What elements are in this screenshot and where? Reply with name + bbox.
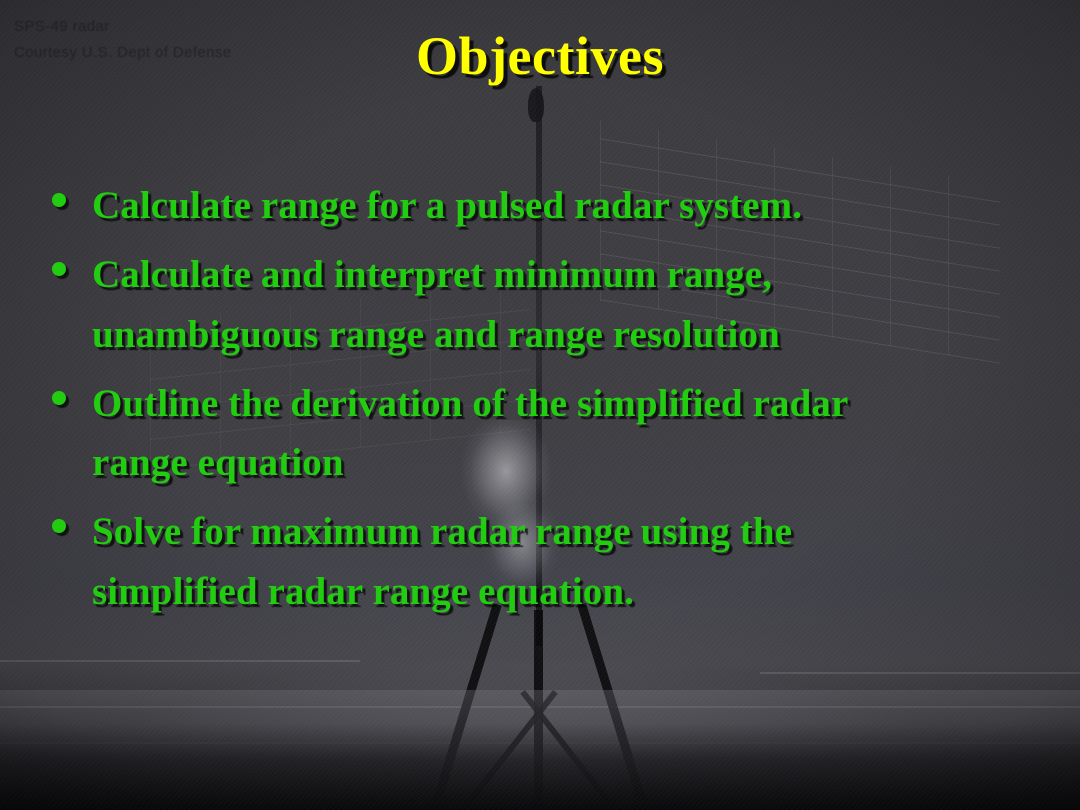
bullet-item: Solve for maximum radar range using the … xyxy=(42,502,1050,621)
bullet-line: range equation xyxy=(92,433,1050,492)
bullet-text: Outline the derivation of the simplified… xyxy=(92,374,1050,493)
slide-body: Calculate range for a pulsed radar syste… xyxy=(42,176,1050,631)
bullet-text: Calculate range for a pulsed radar syste… xyxy=(92,176,1050,235)
bullet-text: Calculate and interpret minimum range, u… xyxy=(92,245,1050,364)
round-bullet-icon xyxy=(52,519,66,533)
round-bullet-icon xyxy=(52,193,66,207)
bullet-line: simplified radar range equation. xyxy=(92,562,1050,621)
presentation-slide: SPS-49 radar Courtesy U.S. Dept of Defen… xyxy=(0,0,1080,810)
bullet-line: Calculate and interpret minimum range, xyxy=(92,245,1050,304)
bullet-item: Calculate range for a pulsed radar syste… xyxy=(42,176,1050,235)
bullet-line: Calculate range for a pulsed radar syste… xyxy=(92,176,1050,235)
round-bullet-icon xyxy=(52,262,66,276)
round-bullet-icon xyxy=(52,391,66,405)
bullet-line: Solve for maximum radar range using the xyxy=(92,502,1050,561)
bullet-item: Outline the derivation of the simplified… xyxy=(42,374,1050,493)
slide-title: Objectives xyxy=(0,28,1080,85)
bullet-text: Solve for maximum radar range using the … xyxy=(92,502,1050,621)
bullet-line: Outline the derivation of the simplified… xyxy=(92,374,1050,433)
bullet-item: Calculate and interpret minimum range, u… xyxy=(42,245,1050,364)
bullet-line: unambiguous range and range resolution xyxy=(92,305,1050,364)
